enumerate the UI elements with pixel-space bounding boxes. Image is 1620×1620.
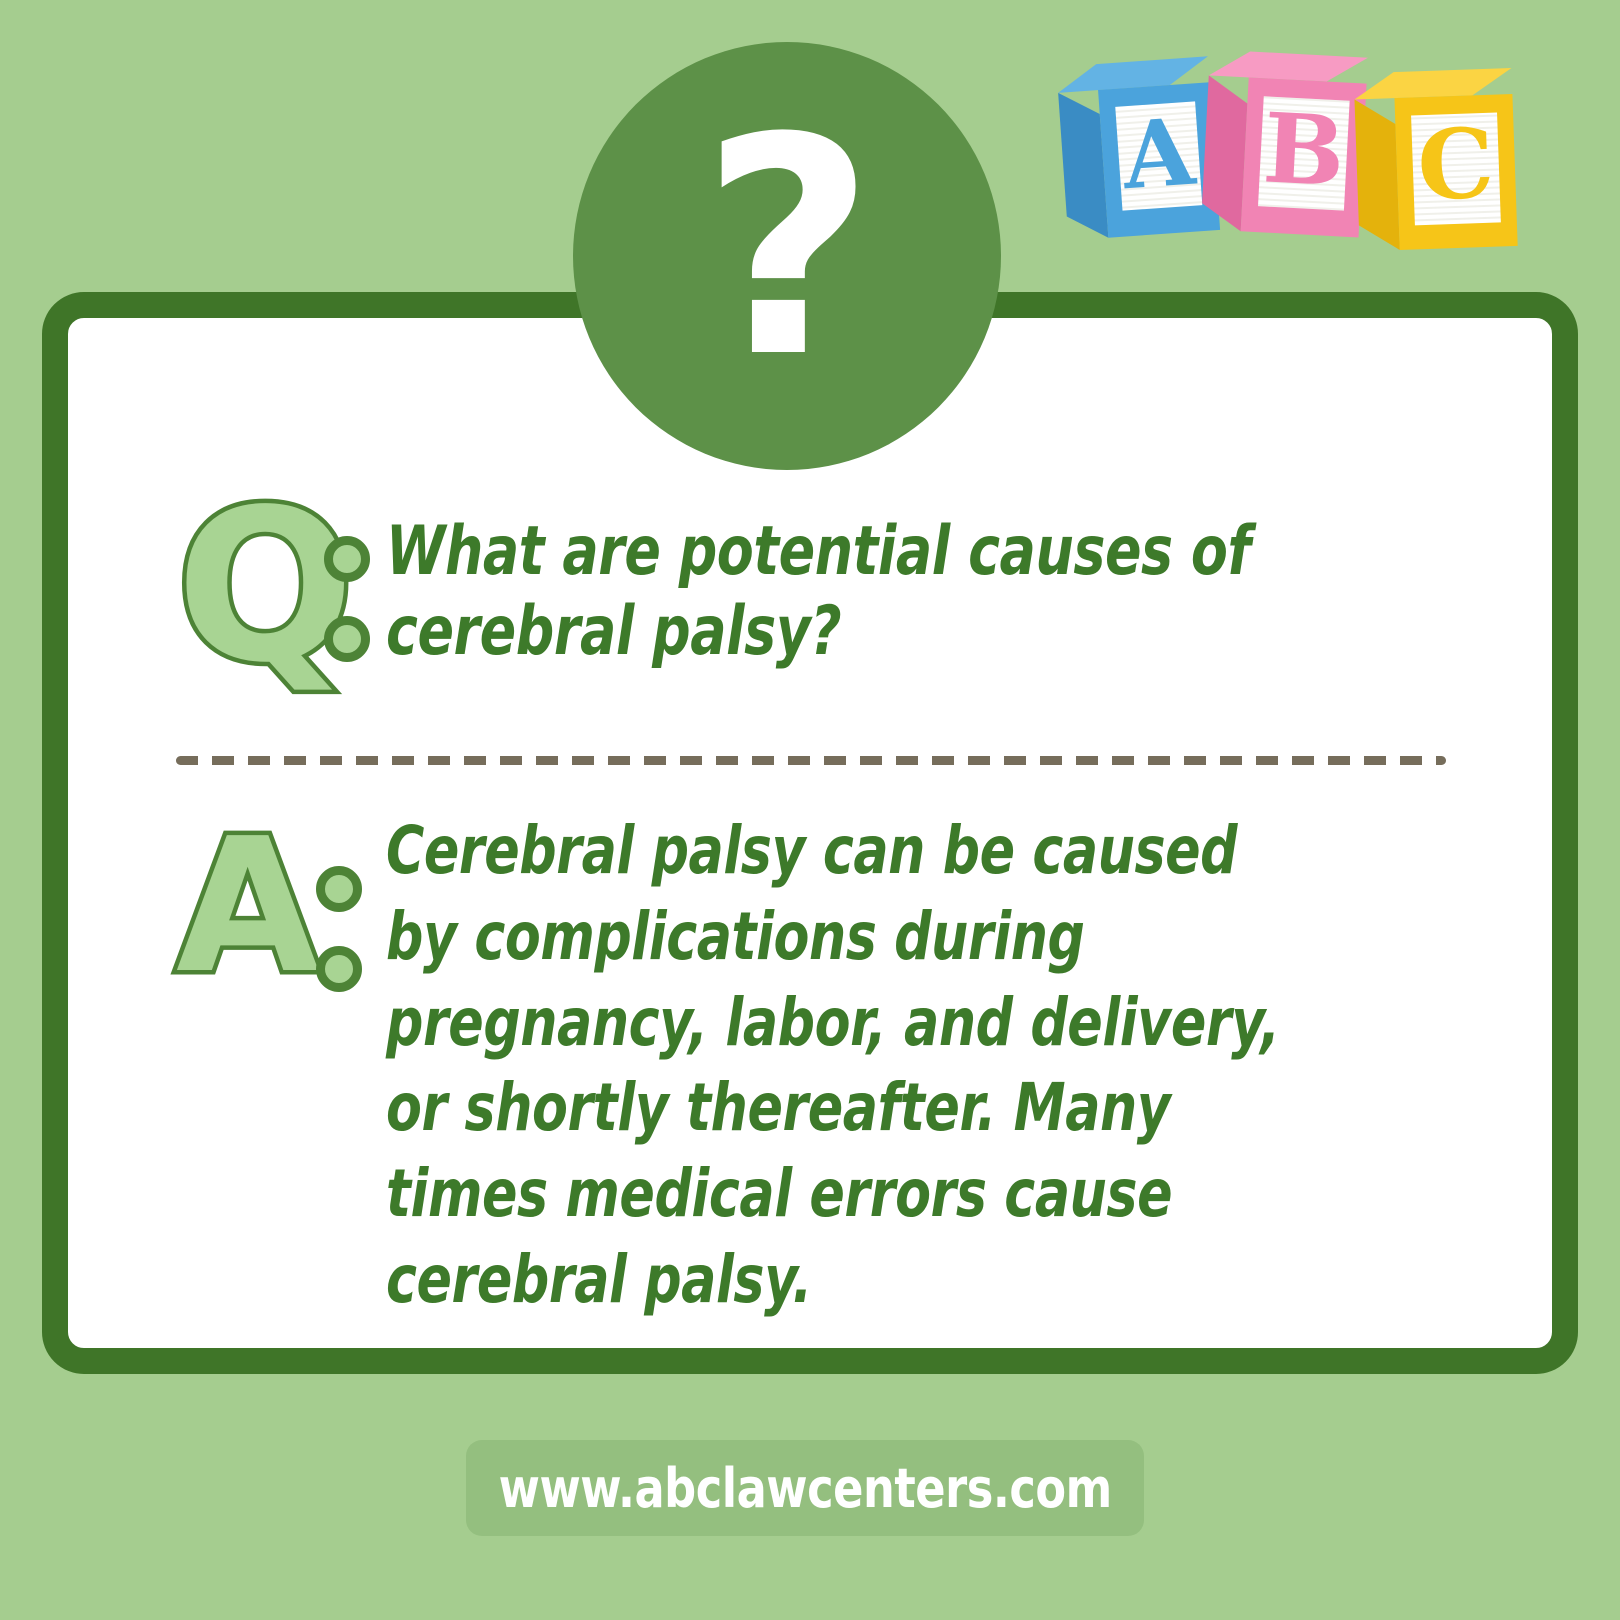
question-mark-badge: ? bbox=[573, 42, 1001, 470]
qa-card-inner: Q What are potential causes of cerebral … bbox=[68, 318, 1552, 1348]
website-url[interactable]: www.abclawcenters.com bbox=[498, 1457, 1111, 1520]
question-row: Q What are potential causes of cerebral … bbox=[176, 508, 1446, 688]
question-colon-dot-bottom bbox=[324, 616, 370, 662]
svg-text:B: B bbox=[1261, 91, 1348, 208]
website-pill[interactable]: www.abclawcenters.com bbox=[466, 1440, 1144, 1536]
svg-text:A: A bbox=[1118, 98, 1199, 211]
answer-colon-dot-bottom bbox=[316, 946, 362, 992]
answer-colon-dot-top bbox=[316, 866, 362, 912]
block-c-icon: C bbox=[1354, 68, 1518, 251]
answer-marker: A bbox=[176, 808, 386, 988]
block-b-icon: B bbox=[1201, 49, 1368, 237]
question-colon-dot-top bbox=[324, 536, 370, 582]
block-a-icon: A bbox=[1056, 56, 1220, 240]
answer-marker-letter: A bbox=[176, 814, 319, 999]
abc-toy-blocks: A B C bbox=[1045, 40, 1545, 280]
question-mark-icon: ? bbox=[701, 99, 873, 399]
answer-text: Cerebral palsy can be caused by complica… bbox=[386, 808, 1319, 1323]
svg-text:C: C bbox=[1416, 107, 1496, 223]
question-marker-letter: Q bbox=[176, 482, 355, 692]
infographic-canvas: A B C ? bbox=[0, 0, 1620, 1620]
dashed-divider bbox=[176, 756, 1446, 765]
question-marker: Q bbox=[176, 508, 386, 688]
answer-row: A Cerebral palsy can be caused by compli… bbox=[176, 808, 1446, 1323]
question-text: What are potential causes of cerebral pa… bbox=[386, 508, 1319, 672]
